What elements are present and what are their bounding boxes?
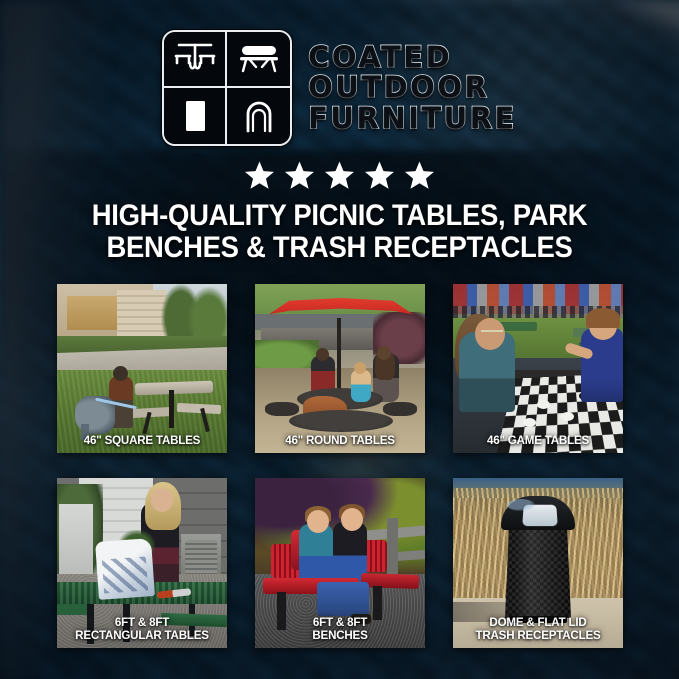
star-icon [284, 160, 315, 191]
star-icon [404, 160, 435, 191]
product-grid: 46" SQUARE TABLES 46" ROUND TABLES [57, 284, 623, 648]
product-photo [255, 284, 425, 453]
brand-logo: COATED OUTDOOR FURNITURE [0, 26, 679, 150]
headline-line-1: HIGH-QUALITY PICNIC TABLES, PARK [92, 199, 588, 232]
logo-icon-grid [162, 30, 292, 146]
star-icon [324, 160, 355, 191]
bike-rack-icon [227, 88, 290, 144]
logo-line-1: COATED [308, 43, 517, 73]
product-tile-square-tables[interactable]: 46" SQUARE TABLES [57, 284, 227, 453]
product-tile-round-tables[interactable]: 46" ROUND TABLES [255, 284, 425, 453]
logo-line-3: FURNITURE [308, 104, 517, 134]
product-caption: 46" GAME TABLES [458, 434, 618, 447]
star-icon [364, 160, 395, 191]
logo-line-2: OUTDOOR [308, 73, 517, 103]
product-photo [57, 284, 227, 453]
headline: HIGH-QUALITY PICNIC TABLES, PARK BENCHES… [24, 200, 655, 264]
product-photo [453, 284, 623, 453]
product-banner: COATED OUTDOOR FURNITURE HIGH-QUALITY PI… [0, 0, 679, 679]
logo-wordmark: COATED OUTDOOR FURNITURE [308, 43, 517, 134]
bench-icon [227, 32, 290, 88]
headline-line-2: BENCHES & TRASH RECEPTACLES [24, 232, 655, 264]
product-caption: 46" ROUND TABLES [260, 434, 420, 447]
picnic-table-icon [164, 32, 227, 88]
star-icon [244, 160, 275, 191]
star-rating [0, 160, 679, 191]
trash-receptacle-icon [164, 88, 227, 144]
product-caption: 46" SQUARE TABLES [62, 434, 222, 447]
product-caption: 6FT & 8FT BENCHES [260, 616, 420, 642]
product-caption: 6FT & 8FT RECTANGULAR TABLES [62, 616, 222, 642]
product-tile-game-tables[interactable]: 46" GAME TABLES [453, 284, 623, 453]
product-caption: DOME & FLAT LID TRASH RECEPTACLES [458, 616, 618, 642]
product-tile-trash-receptacles[interactable]: DOME & FLAT LID TRASH RECEPTACLES [453, 478, 623, 648]
product-tile-rectangular-tables[interactable]: 6FT & 8FT RECTANGULAR TABLES [57, 478, 227, 648]
product-tile-benches[interactable]: 6FT & 8FT BENCHES [255, 478, 425, 648]
